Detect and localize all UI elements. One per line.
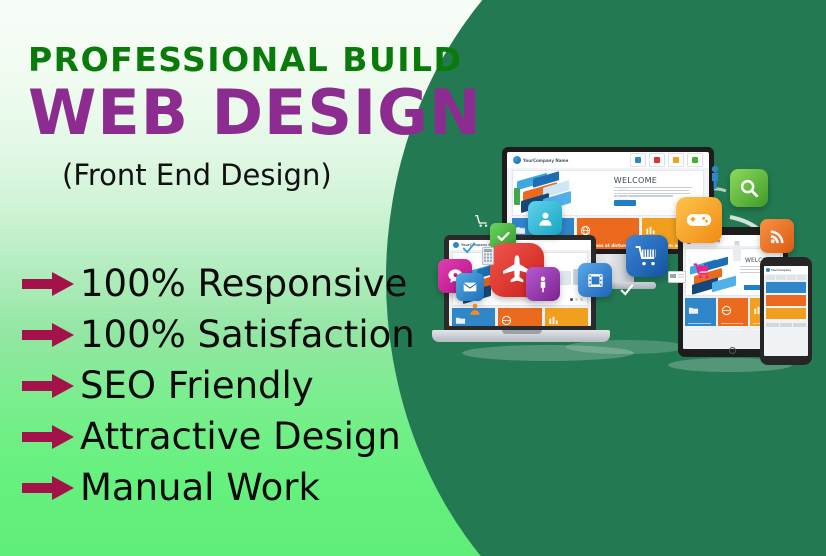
check-white-icon xyxy=(620,283,634,297)
user-avatar-icon[interactable] xyxy=(528,201,562,235)
person-blue-icon xyxy=(708,165,722,189)
poster-canvas: PROFESSIONAL BUILD WEB DESIGN (Front End… xyxy=(0,0,826,556)
person-icon[interactable] xyxy=(526,267,560,301)
nav-item[interactable] xyxy=(649,153,665,167)
shopping-cart-icon[interactable] xyxy=(626,235,668,277)
eyebrow-text: PROFESSIONAL BUILD xyxy=(28,40,462,79)
list-item: Manual Work xyxy=(22,462,442,513)
spray-can-icon xyxy=(730,239,744,263)
media-film-icon[interactable] xyxy=(578,263,612,297)
nav-item[interactable] xyxy=(668,153,684,167)
phone-screen: YourCompany xyxy=(764,266,808,356)
site-nav xyxy=(630,153,703,167)
chart-icon xyxy=(548,315,559,326)
feature-label: Manual Work xyxy=(80,469,320,506)
arrow-right-icon xyxy=(22,424,74,450)
envelope-icon[interactable] xyxy=(456,273,484,301)
rss-feed-icon[interactable] xyxy=(760,219,794,253)
calculator-icon xyxy=(482,247,494,265)
logo-dot-icon xyxy=(513,156,521,164)
contact-icon xyxy=(692,157,698,163)
cart-outline-icon xyxy=(474,213,490,229)
nav-item[interactable] xyxy=(687,153,703,167)
feature-label: Attractive Design xyxy=(80,418,401,455)
arrow-right-icon xyxy=(22,475,74,501)
list-item: 100% Responsive xyxy=(22,258,442,309)
page-title: WEB DESIGN xyxy=(28,80,482,145)
site-brand: YourCompany Name xyxy=(523,158,568,163)
responsive-devices-illustration: YourCompany Name xyxy=(430,135,826,400)
hero-heading: WELCOME xyxy=(614,176,699,185)
subtitle-text: (Front End Design) xyxy=(62,158,332,192)
arrow-right-icon xyxy=(22,271,74,297)
gamepad-icon[interactable] xyxy=(676,197,722,243)
folders-icon xyxy=(455,315,466,326)
arrow-right-icon xyxy=(22,322,74,348)
folders-icon xyxy=(688,305,699,316)
magnifier-icon[interactable] xyxy=(730,169,768,207)
globe-icon xyxy=(501,315,512,326)
doc-icon xyxy=(654,157,660,163)
list-item: 100% Satisfaction xyxy=(22,309,442,360)
card-small-icon xyxy=(668,271,686,283)
feature-label: SEO Friendly xyxy=(80,367,314,404)
laptop-trackpad-notch xyxy=(502,330,542,334)
feature-label: 100% Responsive xyxy=(80,265,407,302)
check-tick-icon xyxy=(462,241,476,255)
user-small-icon xyxy=(468,302,482,316)
list-item: Attractive Design xyxy=(22,411,442,462)
feature-list: 100% Responsive 100% Satisfaction SEO Fr… xyxy=(22,258,442,513)
site-logo: YourCompany Name xyxy=(513,156,568,164)
globe-icon xyxy=(721,305,732,316)
smartphone: YourCompany xyxy=(760,257,812,365)
cart-magenta-icon xyxy=(692,261,712,281)
square-outline-icon xyxy=(616,187,630,201)
home-icon xyxy=(635,157,641,163)
arrow-right-icon xyxy=(22,373,74,399)
list-item: SEO Friendly xyxy=(22,360,442,411)
site-topbar: YourCompany Name xyxy=(507,152,709,168)
tablet-home-button[interactable] xyxy=(729,347,736,354)
nav-item[interactable] xyxy=(630,153,646,167)
pencil-icon xyxy=(673,157,679,163)
feature-label: 100% Satisfaction xyxy=(80,316,415,353)
